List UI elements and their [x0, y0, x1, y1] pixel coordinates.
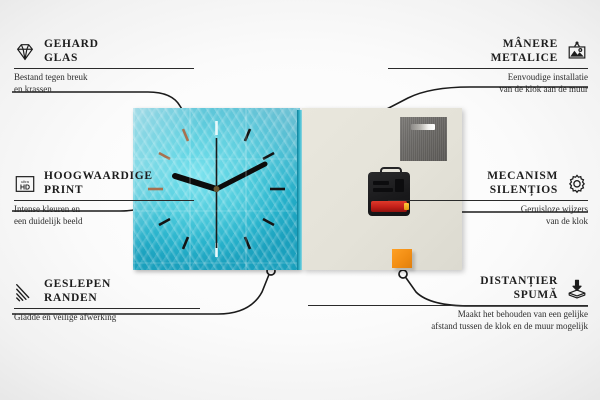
- feature-manere-metalice-head: MÂNEREMETALICE: [388, 38, 588, 65]
- tick-1: [245, 129, 250, 141]
- tick-4: [263, 219, 274, 225]
- tick-5: [245, 237, 250, 249]
- feature-mecanism-silentios-rule: [388, 200, 588, 201]
- feature-mecanism-silentios: MECANISMSILENȚIOS Geruisloze wijzersvan …: [388, 170, 588, 227]
- gear-icon: [566, 173, 588, 195]
- feature-hoogwaardige-print-rule: [14, 200, 194, 201]
- foam-spacer-pad: [392, 249, 412, 268]
- mechanism-slot-a: [373, 181, 389, 185]
- feature-gehard-glas-title: GEHARDGLAS: [44, 38, 99, 65]
- tick-7: [183, 237, 188, 249]
- feature-distantier-spuma-subtitle: Maakt het behouden van een gelijkeafstan…: [308, 309, 588, 332]
- product-infographic: GEHARDGLAS Bestand tegen breuken krassen…: [0, 0, 600, 400]
- feature-gehard-glas-subtitle: Bestand tegen breuken krassen: [14, 72, 194, 95]
- feature-mecanism-silentios-head: MECANISMSILENȚIOS: [388, 170, 588, 197]
- feature-geslepen-randen-head: GESLEPENRANDEN: [14, 278, 200, 305]
- spacer-arrow-icon: [566, 278, 588, 300]
- feature-hoogwaardige-print-subtitle: Intense kleuren eneen duidelijk beeld: [14, 204, 194, 227]
- ultra-hd-icon: ultra HD: [14, 173, 36, 195]
- tick-2: [263, 153, 274, 159]
- feature-manere-metalice-title: MÂNEREMETALICE: [491, 38, 558, 65]
- feature-gehard-glas-rule: [14, 68, 194, 69]
- svg-text:ultra: ultra: [21, 179, 30, 184]
- feature-manere-metalice-subtitle: Eenvoudige installatievan de klok aan de…: [388, 72, 588, 95]
- hanger-keyhole-slot: [411, 124, 435, 130]
- feature-geslepen-randen-title: GESLEPENRANDEN: [44, 278, 111, 305]
- feature-distantier-spuma-head: DISTANȚIERSPUMĂ: [308, 275, 588, 302]
- diamond-icon: [14, 41, 36, 63]
- feature-geslepen-randen-rule: [14, 308, 200, 309]
- tick-11: [183, 129, 188, 141]
- minute-hand: [217, 164, 266, 189]
- beveled-edges-icon: [14, 281, 36, 303]
- feature-geslepen-randen: GESLEPENRANDEN Gladde en veilige afwerki…: [14, 278, 200, 324]
- feature-mecanism-silentios-title: MECANISMSILENȚIOS: [487, 170, 558, 197]
- feature-mecanism-silentios-subtitle: Geruisloze wijzersvan de klok: [388, 204, 588, 227]
- feature-distantier-spuma: DISTANȚIERSPUMĂ Maakt het behouden van e…: [308, 275, 588, 332]
- feature-manere-metalice: MÂNEREMETALICE Eenvoudige installatievan…: [388, 38, 588, 95]
- metal-hanger-plate: [400, 117, 447, 161]
- feature-hoogwaardige-print-head: ultra HD HOOGWAARDIGEPRINT: [14, 170, 194, 197]
- tick-10: [159, 153, 170, 159]
- feature-hoogwaardige-print-title: HOOGWAARDIGEPRINT: [44, 170, 153, 197]
- feature-gehard-glas-head: GEHARDGLAS: [14, 38, 194, 65]
- feature-distantier-spuma-title: DISTANȚIERSPUMĂ: [480, 275, 558, 302]
- feature-geslepen-randen-subtitle: Gladde en veilige afwerking: [14, 312, 200, 324]
- svg-text:HD: HD: [20, 184, 30, 191]
- feature-distantier-spuma-rule: [308, 305, 588, 306]
- feature-gehard-glas: GEHARDGLAS Bestand tegen breuken krassen: [14, 38, 194, 95]
- feature-hoogwaardige-print: ultra HD HOOGWAARDIGEPRINT Intense kleur…: [14, 170, 194, 227]
- framed-picture-icon: [566, 41, 588, 63]
- hands-pin: [214, 186, 220, 192]
- feature-manere-metalice-rule: [388, 68, 588, 69]
